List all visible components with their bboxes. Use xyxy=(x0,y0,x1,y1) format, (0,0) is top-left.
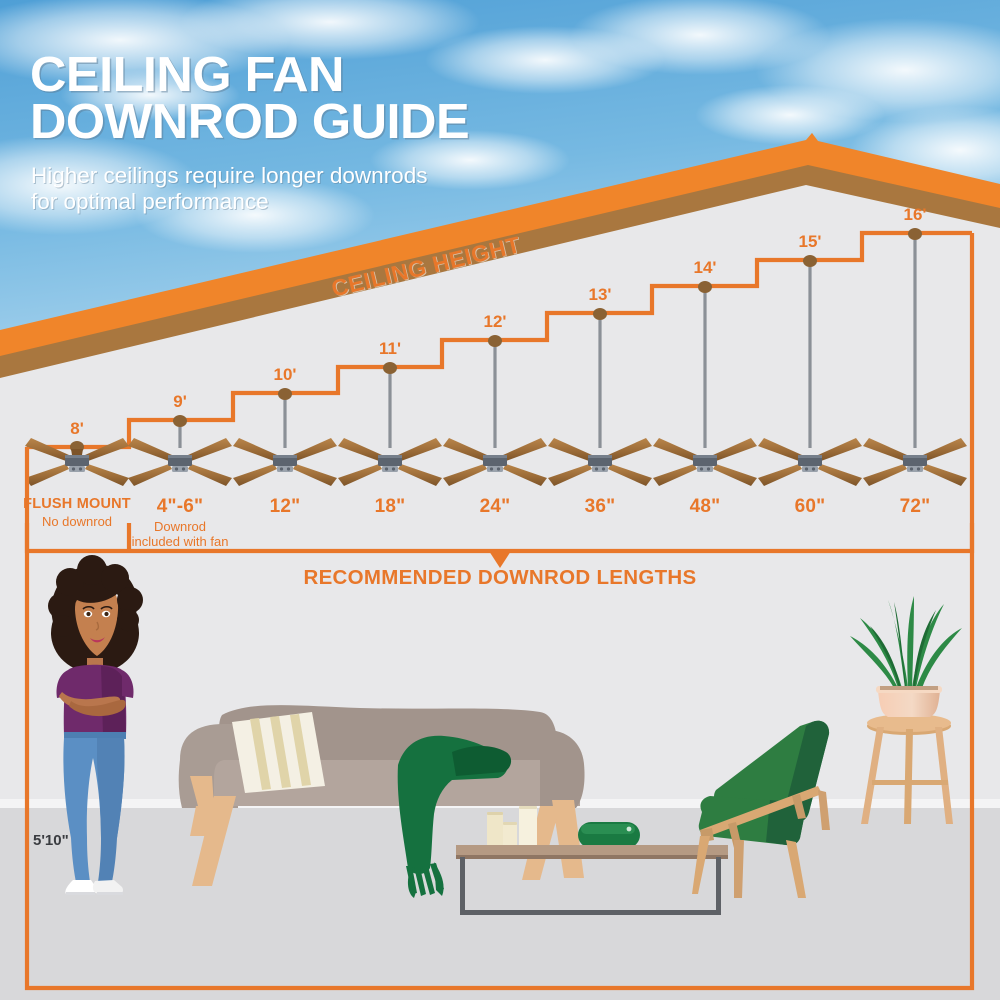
downrod-length-4: 18" xyxy=(375,497,406,517)
downrod-length-5: 24" xyxy=(480,497,511,517)
downrod-length-3: 12" xyxy=(270,497,301,517)
downrod-3 xyxy=(283,393,286,448)
canopy-3 xyxy=(278,388,292,400)
downrod-length-9: 72" xyxy=(900,497,931,517)
downrod-label-6: 36" xyxy=(585,497,616,517)
canopy-2 xyxy=(173,415,187,427)
downrod-label-5: 24" xyxy=(480,497,511,517)
downrod-label-8: 60" xyxy=(795,497,826,517)
downrod-label-7: 48" xyxy=(690,497,721,517)
striped-pillow xyxy=(232,712,325,793)
ceiling-height-label-9: 16' xyxy=(904,205,927,225)
ceiling-height-label-5: 12' xyxy=(484,312,507,332)
person-height-label: 5'10" xyxy=(33,832,69,849)
green-bowl xyxy=(578,822,640,848)
ceiling-height-label-7: 14' xyxy=(694,258,717,278)
page-subtitle: Higher ceilings require longer downrods … xyxy=(31,163,427,216)
downrod-7 xyxy=(703,286,706,448)
canopy-1 xyxy=(70,441,84,455)
downrod-8 xyxy=(808,260,811,448)
downrod-sublabel-1: No downrod xyxy=(23,514,131,529)
downrod-label-4: 18" xyxy=(375,497,406,517)
downrod-length-7: 48" xyxy=(690,497,721,517)
downrod-4 xyxy=(388,367,391,448)
infographic-canvas: CEILING FAN DOWNROD GUIDE Higher ceiling… xyxy=(0,0,1000,1000)
downrod-sublabel-2: Downrod included with fan xyxy=(132,519,229,550)
canopy-8 xyxy=(803,255,817,267)
canopy-4 xyxy=(383,362,397,374)
canopy-6 xyxy=(593,308,607,320)
downrod-9 xyxy=(913,233,916,448)
ceiling-height-label-8: 15' xyxy=(799,232,822,252)
canopy-5 xyxy=(488,335,502,347)
downrod-length-8: 60" xyxy=(795,497,826,517)
downrod-length-1: FLUSH MOUNT xyxy=(23,497,131,512)
downrod-5 xyxy=(493,340,496,448)
page-title: CEILING FAN DOWNROD GUIDE xyxy=(30,52,469,145)
downrod-length-2: 4"-6" xyxy=(132,497,229,517)
ceiling-height-label-2: 9' xyxy=(173,392,187,412)
downrod-label-3: 12" xyxy=(270,497,301,517)
canopy-7 xyxy=(698,281,712,293)
canopy-9 xyxy=(908,228,922,240)
downrod-label-9: 72" xyxy=(900,497,931,517)
recommended-downrod-lengths-label: RECOMMENDED DOWNROD LENGTHS xyxy=(303,566,696,590)
downrod-6 xyxy=(598,313,601,448)
downrod-length-6: 36" xyxy=(585,497,616,517)
ceiling-height-label-3: 10' xyxy=(274,365,297,385)
downrod-label-2: 4"-6"Downrod included with fan xyxy=(132,497,229,550)
ceiling-height-label-1: 8' xyxy=(70,419,84,439)
downrod-label-1: FLUSH MOUNTNo downrod xyxy=(23,497,131,530)
ceiling-height-label-6: 13' xyxy=(589,285,612,305)
ceiling-height-label-4: 11' xyxy=(379,339,401,359)
